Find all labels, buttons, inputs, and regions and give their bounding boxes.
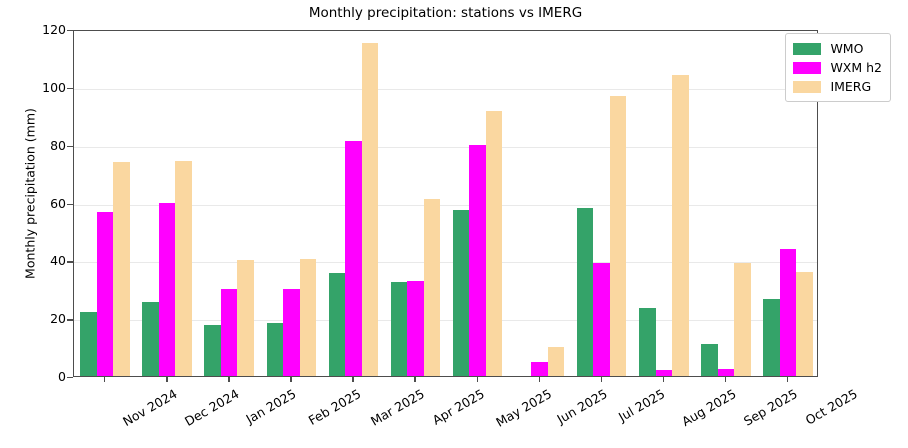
legend-label: IMERG — [830, 79, 871, 94]
bar-wmo[interactable] — [701, 344, 718, 376]
bar-wxm-h2[interactable] — [159, 203, 176, 377]
chart-title: Monthly precipitation: stations vs IMERG — [73, 5, 818, 21]
chart-figure: Monthly precipitation: stations vs IMERG… — [0, 0, 908, 448]
bar-imerg[interactable] — [424, 199, 441, 376]
x-tick-mark — [290, 377, 291, 382]
x-tick-label: Aug 2025 — [679, 386, 739, 429]
y-tick-label: 120 — [26, 22, 66, 37]
x-tick-label: Feb 2025 — [306, 386, 364, 428]
y-tick-label: 60 — [26, 196, 66, 211]
x-tick-mark — [228, 377, 229, 382]
y-tick-label: 20 — [26, 311, 66, 326]
bar-wxm-h2[interactable] — [780, 249, 797, 376]
bar-wxm-h2[interactable] — [593, 263, 610, 376]
bar-wxm-h2[interactable] — [531, 362, 548, 376]
legend-swatch-icon — [793, 62, 821, 74]
bar-imerg[interactable] — [175, 161, 192, 376]
bar-wmo[interactable] — [763, 299, 780, 376]
bar-imerg[interactable] — [300, 259, 317, 376]
x-tick-mark — [787, 377, 788, 382]
bar-wxm-h2[interactable] — [345, 141, 362, 376]
bar-wmo[interactable] — [577, 208, 594, 376]
y-tick-label: 0 — [26, 369, 66, 384]
legend-swatch-icon — [793, 81, 821, 93]
bar-wxm-h2[interactable] — [469, 145, 486, 376]
bar-imerg[interactable] — [362, 43, 379, 376]
bar-imerg[interactable] — [610, 96, 627, 376]
legend-label: WXM h2 — [830, 60, 882, 75]
bar-wxm-h2[interactable] — [221, 289, 238, 376]
bar-group — [142, 31, 192, 376]
bar-group — [701, 31, 751, 376]
legend-swatch-icon — [793, 43, 821, 55]
bar-wxm-h2[interactable] — [656, 370, 673, 376]
y-tick-label: 40 — [26, 253, 66, 268]
y-tick-label: 80 — [26, 138, 66, 153]
plot-area — [73, 30, 818, 377]
x-tick-mark — [663, 377, 664, 382]
bar-imerg[interactable] — [796, 272, 813, 376]
bar-group — [267, 31, 317, 376]
legend-item-wmo[interactable]: WMO — [793, 39, 882, 58]
bar-wmo[interactable] — [142, 302, 159, 376]
bar-imerg[interactable] — [548, 347, 565, 376]
legend-item-imerg[interactable]: IMERG — [793, 77, 882, 96]
legend-item-wxm-h2[interactable]: WXM h2 — [793, 58, 882, 77]
x-tick-label: Dec 2024 — [182, 386, 241, 429]
bar-imerg[interactable] — [486, 111, 503, 376]
bar-wmo[interactable] — [453, 210, 470, 376]
x-tick-label: Jan 2025 — [244, 386, 299, 427]
bar-imerg[interactable] — [734, 263, 751, 376]
x-tick-mark — [477, 377, 478, 382]
x-tick-mark — [104, 377, 105, 382]
bar-wmo[interactable] — [329, 273, 346, 376]
bar-imerg[interactable] — [672, 75, 689, 376]
x-tick-label: Jun 2025 — [554, 386, 609, 427]
x-tick-label: Oct 2025 — [803, 386, 860, 428]
legend: WMOWXM h2IMERG — [785, 33, 891, 102]
bar-group — [329, 31, 379, 376]
bar-group — [453, 31, 503, 376]
bar-wxm-h2[interactable] — [283, 289, 300, 376]
bar-wxm-h2[interactable] — [97, 212, 114, 376]
bar-wxm-h2[interactable] — [718, 369, 735, 376]
x-tick-mark — [166, 377, 167, 382]
legend-label: WMO — [830, 41, 863, 56]
bar-group — [515, 31, 565, 376]
x-tick-label: Sep 2025 — [741, 386, 800, 429]
bar-group — [639, 31, 689, 376]
bar-wmo[interactable] — [204, 325, 221, 376]
bar-group — [80, 31, 130, 376]
bar-series-container — [74, 31, 817, 376]
x-tick-mark — [352, 377, 353, 382]
x-tick-label: Apr 2025 — [430, 386, 487, 428]
x-tick-mark — [725, 377, 726, 382]
x-tick-label: May 2025 — [493, 386, 554, 430]
bar-group — [204, 31, 254, 376]
x-tick-label: Nov 2024 — [120, 386, 180, 429]
bar-wmo[interactable] — [391, 282, 408, 376]
x-tick-mark — [539, 377, 540, 382]
x-tick-label: Mar 2025 — [368, 386, 427, 429]
x-tick-label: Jul 2025 — [616, 386, 668, 424]
x-tick-mark — [601, 377, 602, 382]
bar-wmo[interactable] — [267, 323, 284, 376]
bar-wmo[interactable] — [80, 312, 97, 376]
y-tick-mark — [67, 377, 73, 378]
x-tick-mark — [414, 377, 415, 382]
bar-group — [577, 31, 627, 376]
y-tick-label: 100 — [26, 80, 66, 95]
bar-imerg[interactable] — [113, 162, 130, 376]
bar-wxm-h2[interactable] — [407, 281, 424, 376]
bar-group — [391, 31, 441, 376]
bar-wmo[interactable] — [639, 308, 656, 376]
bar-imerg[interactable] — [237, 260, 254, 376]
